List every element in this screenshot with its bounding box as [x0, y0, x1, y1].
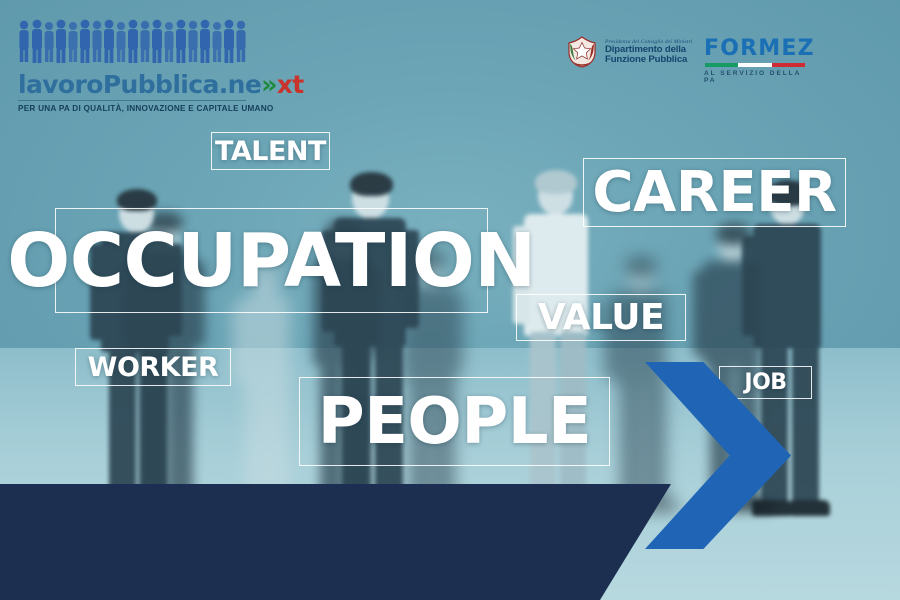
- logo-wordmark-main: lavoroPubblica.ne: [18, 70, 261, 99]
- logo-wordmark-xt: xt: [277, 70, 304, 99]
- government-logo[interactable]: Presidenza del Consiglio dei Ministri Di…: [566, 34, 692, 70]
- government-line2: Funzione Pubblica: [605, 55, 692, 65]
- formez-wordmark: FORMEZ: [704, 36, 808, 61]
- formez-tagline: AL SERVIZIO DELLA PA: [704, 70, 808, 84]
- logo-wordmark-chevron: »: [261, 70, 277, 99]
- formez-logo[interactable]: FORMEZ AL SERVIZIO DELLA PA: [704, 36, 808, 84]
- italian-flag-icon: [705, 63, 805, 67]
- logo-wordmark: lavoroPubblica.ne»xt: [18, 70, 304, 99]
- keyword-value: VALUE: [516, 294, 686, 341]
- keyword-talent: TALENT: [211, 132, 330, 170]
- keyword-worker: WORKER: [75, 348, 231, 386]
- crowd-silhouette-icon: [16, 18, 248, 63]
- government-logo-text: Presidenza del Consiglio dei Ministri Di…: [605, 39, 692, 66]
- keyword-occupation: OCCUPATION: [55, 208, 488, 313]
- keyword-people: PEOPLE: [299, 377, 610, 466]
- logo-tagline: PER UNA PA DI QUALITÀ, INNOVAZIONE E CAP…: [18, 104, 274, 113]
- italian-republic-emblem-icon: [566, 34, 598, 70]
- keyword-career: CAREER: [583, 158, 846, 227]
- logo-divider: [18, 100, 246, 101]
- poster-canvas: lavoroPubblica.ne»xt PER UNA PA DI QUALI…: [0, 0, 900, 600]
